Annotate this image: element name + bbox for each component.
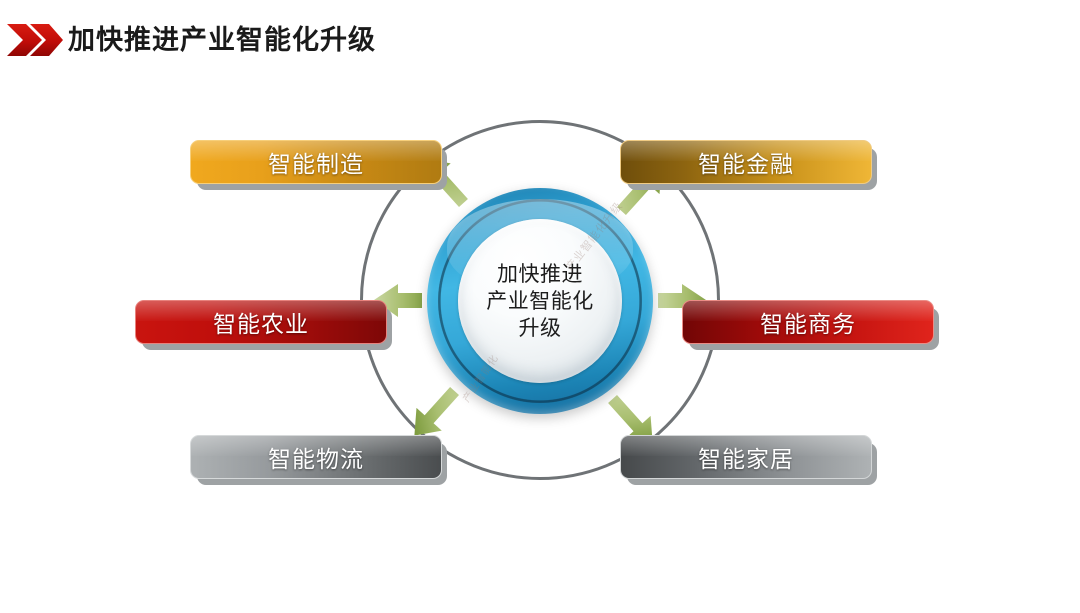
page-header: 加快推进产业智能化升级 (0, 0, 1080, 78)
node-logistics[interactable]: 智能物流 (190, 435, 440, 477)
center-hub: 加快推进 产业智能化 升级 (427, 188, 653, 414)
node-business[interactable]: 智能商务 (682, 300, 932, 342)
node-label: 智能农业 (213, 305, 309, 339)
diagram-canvas: 加快推进 产业智能化 升级 产业智能化升级 产业智能化 智能制造 智能金融 智能… (0, 78, 1080, 613)
node-home[interactable]: 智能家居 (620, 435, 870, 477)
node-face: 智能农业 (135, 300, 387, 344)
node-label: 智能物流 (268, 440, 364, 474)
node-label: 智能商务 (760, 305, 856, 339)
node-finance[interactable]: 智能金融 (620, 140, 870, 182)
center-hub-line-2: 产业智能化 (486, 288, 594, 315)
center-hub-line-1: 加快推进 (497, 261, 583, 288)
center-hub-line-3: 升级 (519, 315, 562, 342)
node-label: 智能家居 (698, 440, 794, 474)
node-agriculture[interactable]: 智能农业 (135, 300, 385, 342)
node-manufacturing[interactable]: 智能制造 (190, 140, 440, 182)
node-label: 智能金融 (698, 145, 794, 179)
node-face: 智能商务 (682, 300, 934, 344)
node-face: 智能家居 (620, 435, 872, 479)
node-face: 智能制造 (190, 140, 442, 184)
double-chevron-right-icon (6, 23, 64, 57)
node-label: 智能制造 (268, 145, 364, 179)
node-face: 智能物流 (190, 435, 442, 479)
page-title: 加快推进产业智能化升级 (68, 25, 376, 57)
center-hub-inner: 加快推进 产业智能化 升级 (458, 219, 622, 383)
node-face: 智能金融 (620, 140, 872, 184)
